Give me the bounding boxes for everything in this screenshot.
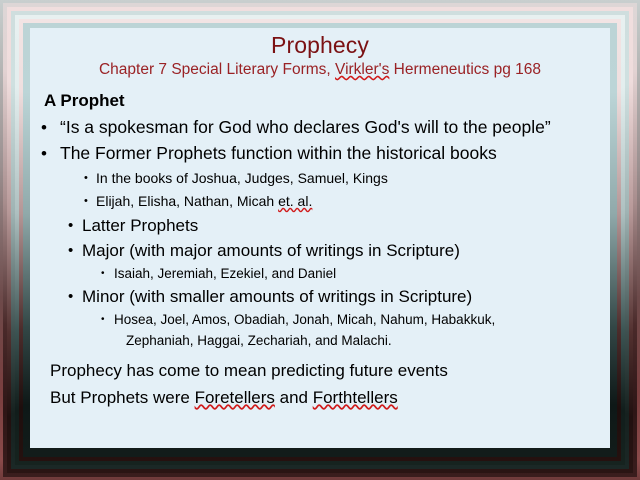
minor-list-line-1: Hosea, Joel, Amos, Obadiah, Jonah, Micah… [114,312,495,327]
minor-list-line-2: Zephaniah, Haggai, Zechariah, and Malach… [114,330,574,351]
subtitle-text-after: Hermeneutics pg 168 [389,61,541,78]
bullet-latter-prophets: Latter Prophets [38,213,604,238]
slide-content-area: Prophecy Chapter 7 Special Literary Form… [30,28,610,448]
closing-line-1: Prophecy has come to mean predicting fut… [38,357,604,384]
bullet-item-1: “Is a spokesman for God who declares God… [38,115,604,140]
closing-misspelled-word-2: Forthtellers [313,388,398,407]
subtitle-misspelled-word: Virkler's [335,61,389,78]
slide-subtitle: Chapter 7 Special Literary Forms, Virkle… [30,60,610,79]
bullet-minor-prophets: Minor (with smaller amounts of writings … [38,284,604,309]
closing-line-2-before: But Prophets were [50,388,195,407]
body-heading: A Prophet [38,90,604,112]
sub-bullet-minor-list: Hosea, Joel, Amos, Obadiah, Jonah, Micah… [38,309,604,351]
bullet-item-2: The Former Prophets function within the … [38,141,604,166]
sub-bullet-former-people: Elijah, Elisha, Nathan, Micah et. al. [38,190,604,213]
decorative-frame: Prophecy Chapter 7 Special Literary Form… [0,0,640,480]
sub-bullet-former-people-text: Elijah, Elisha, Nathan, Micah [96,193,278,209]
closing-misspelled-word-1: Foretellers [195,388,275,407]
closing-line-2-middle: and [275,388,313,407]
closing-line-2: But Prophets were Foretellers and Fortht… [38,384,604,411]
slide-title: Prophecy [30,28,610,59]
subtitle-text-before: Chapter 7 Special Literary Forms, [99,61,335,78]
slide-body: A Prophet “Is a spokesman for God who de… [30,90,610,411]
sub-bullet-major-list: Isaiah, Jeremiah, Ezekiel, and Daniel [38,263,604,284]
sub-bullet-misspelled-word: et. al. [278,193,312,209]
sub-bullet-former-books: In the books of Joshua, Judges, Samuel, … [38,167,604,190]
bullet-major-prophets: Major (with major amounts of writings in… [38,238,604,263]
